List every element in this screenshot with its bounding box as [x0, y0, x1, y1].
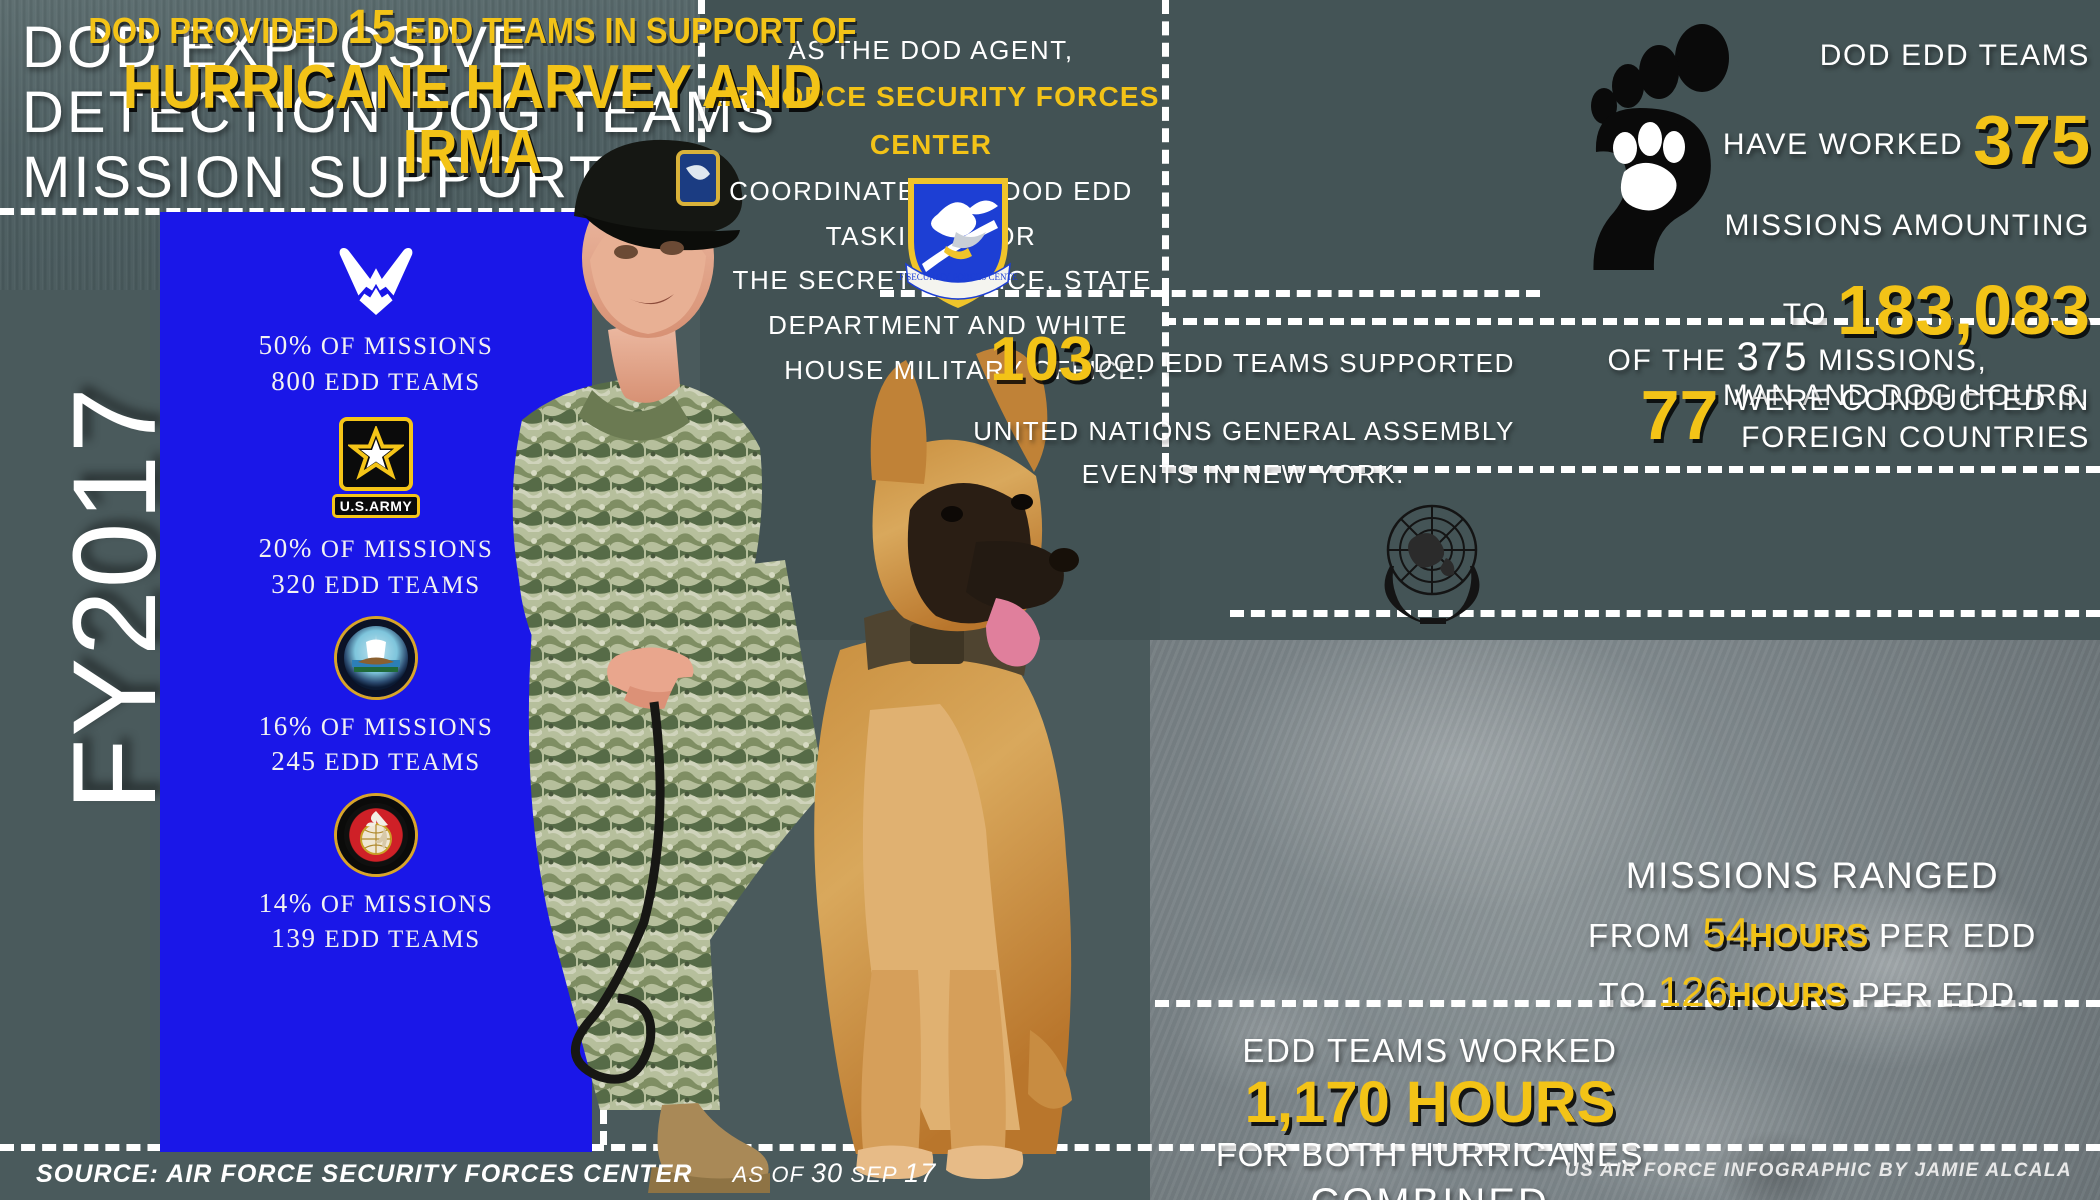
foreign-line-3-text: FOREIGN COUNTRIES — [1734, 420, 2090, 457]
footprint-line2-pre: HAVE WORKED — [1723, 128, 1973, 161]
army-percent: 20% — [259, 533, 313, 563]
army-wordmark: U.S.ARMY — [332, 494, 420, 518]
usmc-teams: 139 — [271, 923, 316, 953]
ranged-line2-post: PER EDD — [1868, 917, 2037, 954]
hurricane-line-1: DOD PROVIDED 15 EDD TEAMS IN SUPPORT OF — [47, 0, 898, 55]
ranged-from-hours: 54HOURS — [1702, 917, 1868, 954]
united-nations-emblem — [1360, 480, 1505, 625]
af-security-forces-center-shield: AF SECURITY FORCES CENTER — [898, 168, 1018, 318]
foreign-count-77: 77 — [1641, 383, 1719, 447]
missions-count-375: 375 — [1973, 101, 2090, 179]
as-of-date: AS OF 30 SEP 17 — [733, 1162, 937, 1187]
un-line-2: UNITED NATIONS GENERAL ASSEMBLY — [885, 410, 1515, 452]
navy-teams: 245 — [271, 746, 316, 776]
hurricane-teams-15: 15 — [348, 1, 396, 54]
army-star-box — [339, 417, 413, 491]
usmc-percent: 14% — [259, 888, 313, 918]
navy-seal-disc — [337, 619, 415, 697]
hours-line-1: EDD TEAMS WORKED — [1160, 1030, 1700, 1073]
hours-value-1170: 1,170 HOURS — [1160, 1073, 1700, 1134]
footprint-line4-pre: TO — [1783, 298, 1837, 331]
ranged-to-hours: 126HOURS — [1658, 976, 1847, 1013]
foreign-pre: OF THE — [1608, 344, 1737, 377]
navy-percent: 16% — [259, 711, 313, 741]
credit-line: US AIR FORCE INFOGRAPHIC BY JAMIE ALCALA — [1565, 1160, 2072, 1182]
un-count-103: 103 — [990, 325, 1093, 394]
ranged-line-1: MISSIONS RANGED — [1530, 850, 2095, 903]
af-teams: 800 — [271, 366, 316, 396]
ranged-to-unit: HOURS — [1728, 976, 1847, 1013]
hurricane-line-2: HURRICANE HARVEY AND IRMA — [57, 55, 889, 185]
source-value: AIR FORCE SECURITY FORCES CENTER — [159, 1160, 693, 1188]
footprint-line-1: DOD EDD TEAMS — [1570, 30, 2090, 81]
as-of-year: 17 — [904, 1158, 936, 1188]
un-line-1: 103DOD EDD TEAMS SUPPORTED — [885, 310, 1515, 410]
un-panel-text: 103DOD EDD TEAMS SUPPORTED UNITED NATION… — [885, 310, 1515, 495]
usmc-seal-disc — [337, 796, 415, 874]
as-of-pre: AS OF — [733, 1162, 811, 1187]
ranged-line3-post: PER EDD. — [1847, 976, 2026, 1013]
hurricane-line1-pre: DOD PROVIDED — [88, 10, 347, 51]
as-of-month: SEP — [843, 1162, 904, 1187]
footprint-line-2: HAVE WORKED 375 — [1570, 81, 2090, 200]
ranged-line2-pre: FROM — [1588, 917, 1702, 954]
hurricane-headline: DOD PROVIDED 15 EDD TEAMS IN SUPPORT OF … — [0, 0, 945, 185]
source-label: SOURCE: — [36, 1160, 159, 1188]
army-teams: 320 — [271, 569, 316, 599]
ranged-to-value: 126 — [1658, 968, 1728, 1015]
ranged-line-3: TO 126HOURS PER EDD. — [1530, 962, 2095, 1022]
ranged-from-unit: HOURS — [1749, 917, 1868, 954]
footprint-line-3: MISSIONS AMOUNTING — [1570, 200, 2090, 251]
afsfc-emblem-text: AF SECURITY FORCES CENTER — [898, 272, 1018, 282]
as-of-day: 30 — [811, 1158, 843, 1188]
missions-ranged-panel: MISSIONS RANGED FROM 54HOURS PER EDD TO … — [1530, 850, 2095, 1022]
ranged-line-2: FROM 54HOURS PER EDD — [1530, 903, 2095, 963]
source-footer: SOURCE: AIR FORCE SECURITY FORCES CENTER… — [36, 1158, 936, 1189]
ranged-from-value: 54 — [1702, 909, 1749, 956]
af-percent: 50% — [259, 330, 313, 360]
foreign-missions-panel: OF THE 375 MISSIONS, 77 WERE CONDUCTED I… — [1575, 332, 2090, 456]
foreign-post: MISSIONS, — [1808, 344, 1987, 377]
un-line1-suffix: DOD EDD TEAMS SUPPORTED — [1093, 348, 1515, 378]
infographic-canvas: DOD EXPLOSIVE DETECTION DOG TEAMS MISSIO… — [0, 0, 2100, 1200]
foreign-total-375: 375 — [1737, 335, 1809, 379]
ranged-line3-pre: TO — [1599, 976, 1658, 1013]
foreign-line-2: 77 WERE CONDUCTED IN FOREIGN COUNTRIES — [1575, 383, 2090, 456]
hurricane-line1-post: EDD TEAMS IN SUPPORT OF — [396, 10, 857, 51]
foreign-line-2-text: WERE CONDUCTED IN — [1734, 383, 2090, 420]
